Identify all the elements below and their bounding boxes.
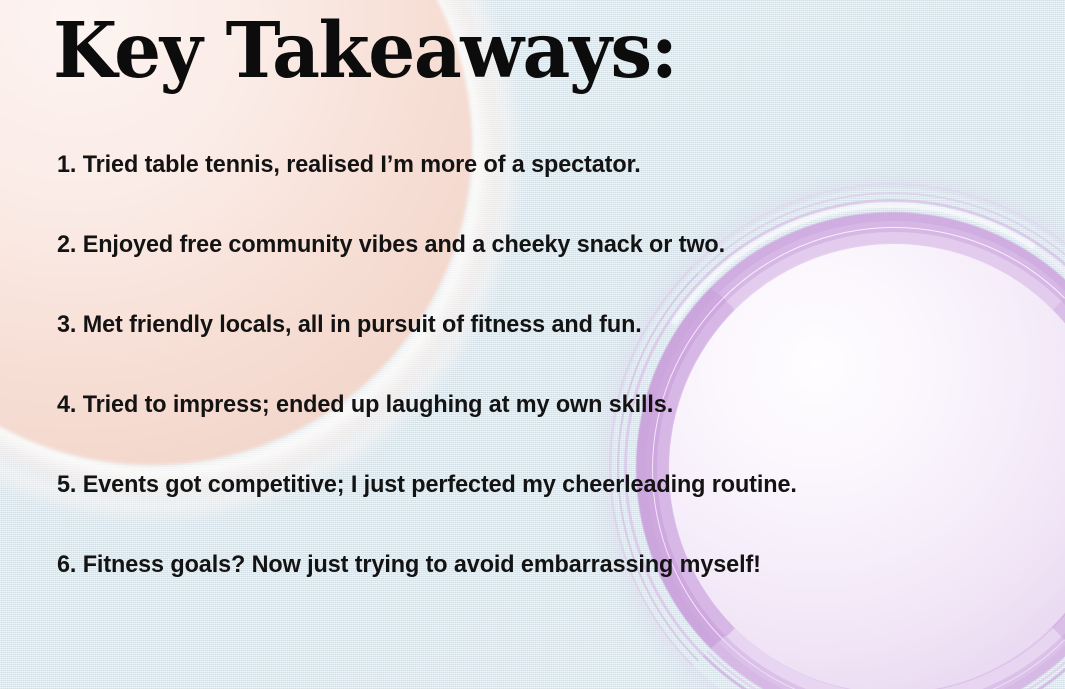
key-takeaways-slide: Key Takeaways: 1. Tried table tennis, re… bbox=[0, 0, 1065, 689]
page-title: Key Takeaways: bbox=[53, 13, 677, 90]
slide-content: Key Takeaways: 1. Tried table tennis, re… bbox=[0, 0, 1065, 689]
list-item: 6. Fitness goals? Now just trying to avo… bbox=[57, 550, 991, 630]
list-item: 4. Tried to impress; ended up laughing a… bbox=[57, 390, 991, 470]
list-item: 5. Events got competitive; I just perfec… bbox=[57, 470, 991, 550]
list-item: 1. Tried table tennis, realised I’m more… bbox=[57, 150, 991, 230]
takeaways-list: 1. Tried table tennis, realised I’m more… bbox=[57, 150, 1035, 630]
list-item: 3. Met friendly locals, all in pursuit o… bbox=[57, 310, 991, 390]
list-item: 2. Enjoyed free community vibes and a ch… bbox=[57, 230, 991, 310]
